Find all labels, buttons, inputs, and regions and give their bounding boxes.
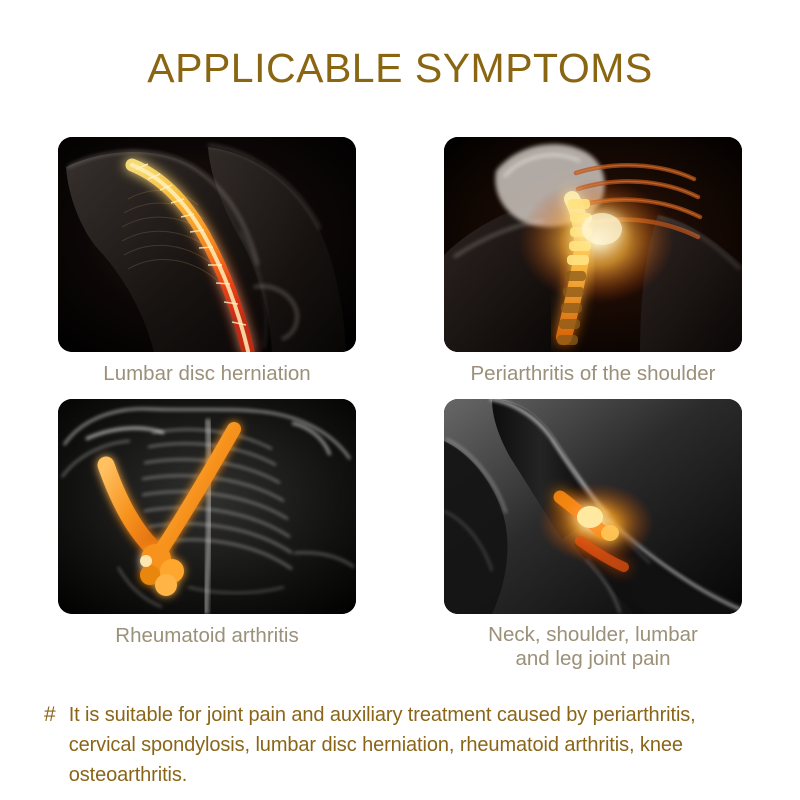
symptom-caption: Periarthritis of the shoulder <box>444 361 742 387</box>
symptom-card-joint-pain: Neck, shoulder, lumbar and leg joint pai… <box>444 399 742 671</box>
symptom-grid: Lumbar disc herniation <box>58 137 742 671</box>
neck-shoulder-xray-image <box>444 137 742 352</box>
symptom-caption-line-2: and leg joint pain <box>444 647 742 671</box>
neck-shoulder-artwork <box>444 137 742 352</box>
knee-joint-artwork <box>444 399 742 614</box>
footer-note-text: It is suitable for joint pain and auxili… <box>69 700 768 790</box>
lumbar-spine-artwork <box>58 137 356 352</box>
product-info-page: APPLICABLE SYMPTOMS <box>0 0 800 800</box>
symptom-card-periarthritis-shoulder: Periarthritis of the shoulder <box>444 137 742 387</box>
elbow-arm-artwork <box>58 399 356 614</box>
symptom-caption: Neck, shoulder, lumbar and leg joint pai… <box>444 623 742 671</box>
symptom-card-lumbar-disc-herniation: Lumbar disc herniation <box>58 137 356 387</box>
page-title: APPLICABLE SYMPTOMS <box>0 44 800 92</box>
symptom-caption: Rheumatoid arthritis <box>58 623 356 649</box>
footer-note: # It is suitable for joint pain and auxi… <box>44 700 768 790</box>
symptom-caption: Lumbar disc herniation <box>58 361 356 387</box>
symptom-card-rheumatoid-arthritis: Rheumatoid arthritis <box>58 399 356 671</box>
elbow-arm-xray-image <box>58 399 356 614</box>
hash-marker-icon: # <box>44 700 56 730</box>
lumbar-spine-xray-image <box>58 137 356 352</box>
symptom-caption-line-1: Neck, shoulder, lumbar <box>444 623 742 647</box>
knee-joint-xray-image <box>444 399 742 614</box>
